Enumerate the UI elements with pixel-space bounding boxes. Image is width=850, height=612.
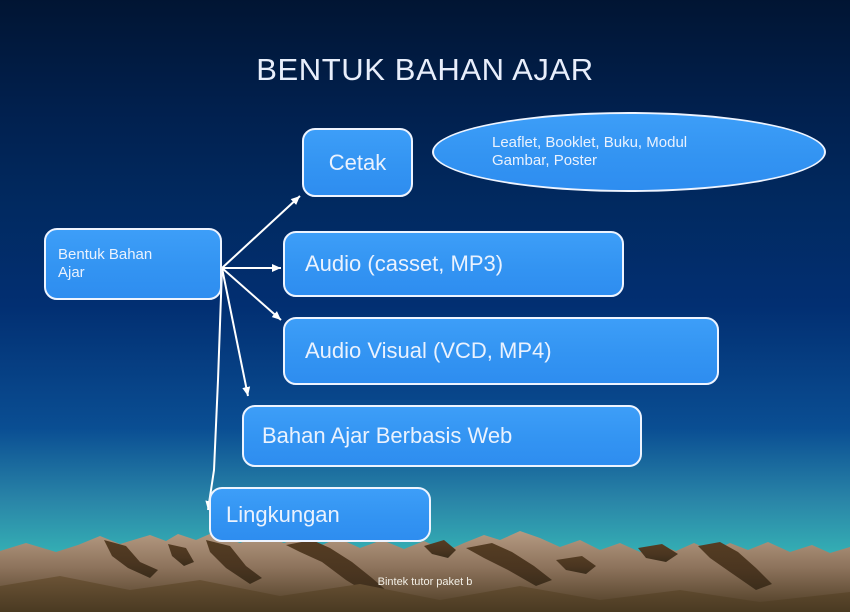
node-audio-visual-label: Audio Visual (VCD, MP4) xyxy=(305,338,697,364)
node-cetak-label: Cetak xyxy=(304,150,411,176)
page-title: BENTUK BAHAN AJAR xyxy=(0,52,850,88)
node-bentuk-bahan-ajar[interactable]: Bentuk BahanAjar xyxy=(44,228,222,300)
node-cetak-detail[interactable]: Leaflet, Booklet, Buku, ModulGambar, Pos… xyxy=(432,112,826,192)
node-web-label: Bahan Ajar Berbasis Web xyxy=(262,423,622,449)
node-lingkungan-label: Lingkungan xyxy=(226,502,414,528)
node-audio-visual[interactable]: Audio Visual (VCD, MP4) xyxy=(283,317,719,385)
node-web[interactable]: Bahan Ajar Berbasis Web xyxy=(242,405,642,467)
slide-canvas: BENTUK BAHAN AJAR Bentuk BahanAjar Cetak xyxy=(0,0,850,612)
node-audio-label: Audio (casset, MP3) xyxy=(305,251,602,277)
node-cetak-detail-label: Leaflet, Booklet, Buku, ModulGambar, Pos… xyxy=(492,134,790,169)
slide-footer: Bintek tutor paket b xyxy=(0,576,850,588)
node-audio[interactable]: Audio (casset, MP3) xyxy=(283,231,624,297)
node-bentuk-bahan-ajar-label: Bentuk BahanAjar xyxy=(58,246,208,281)
node-lingkungan[interactable]: Lingkungan xyxy=(209,487,431,542)
node-cetak[interactable]: Cetak xyxy=(302,128,413,197)
